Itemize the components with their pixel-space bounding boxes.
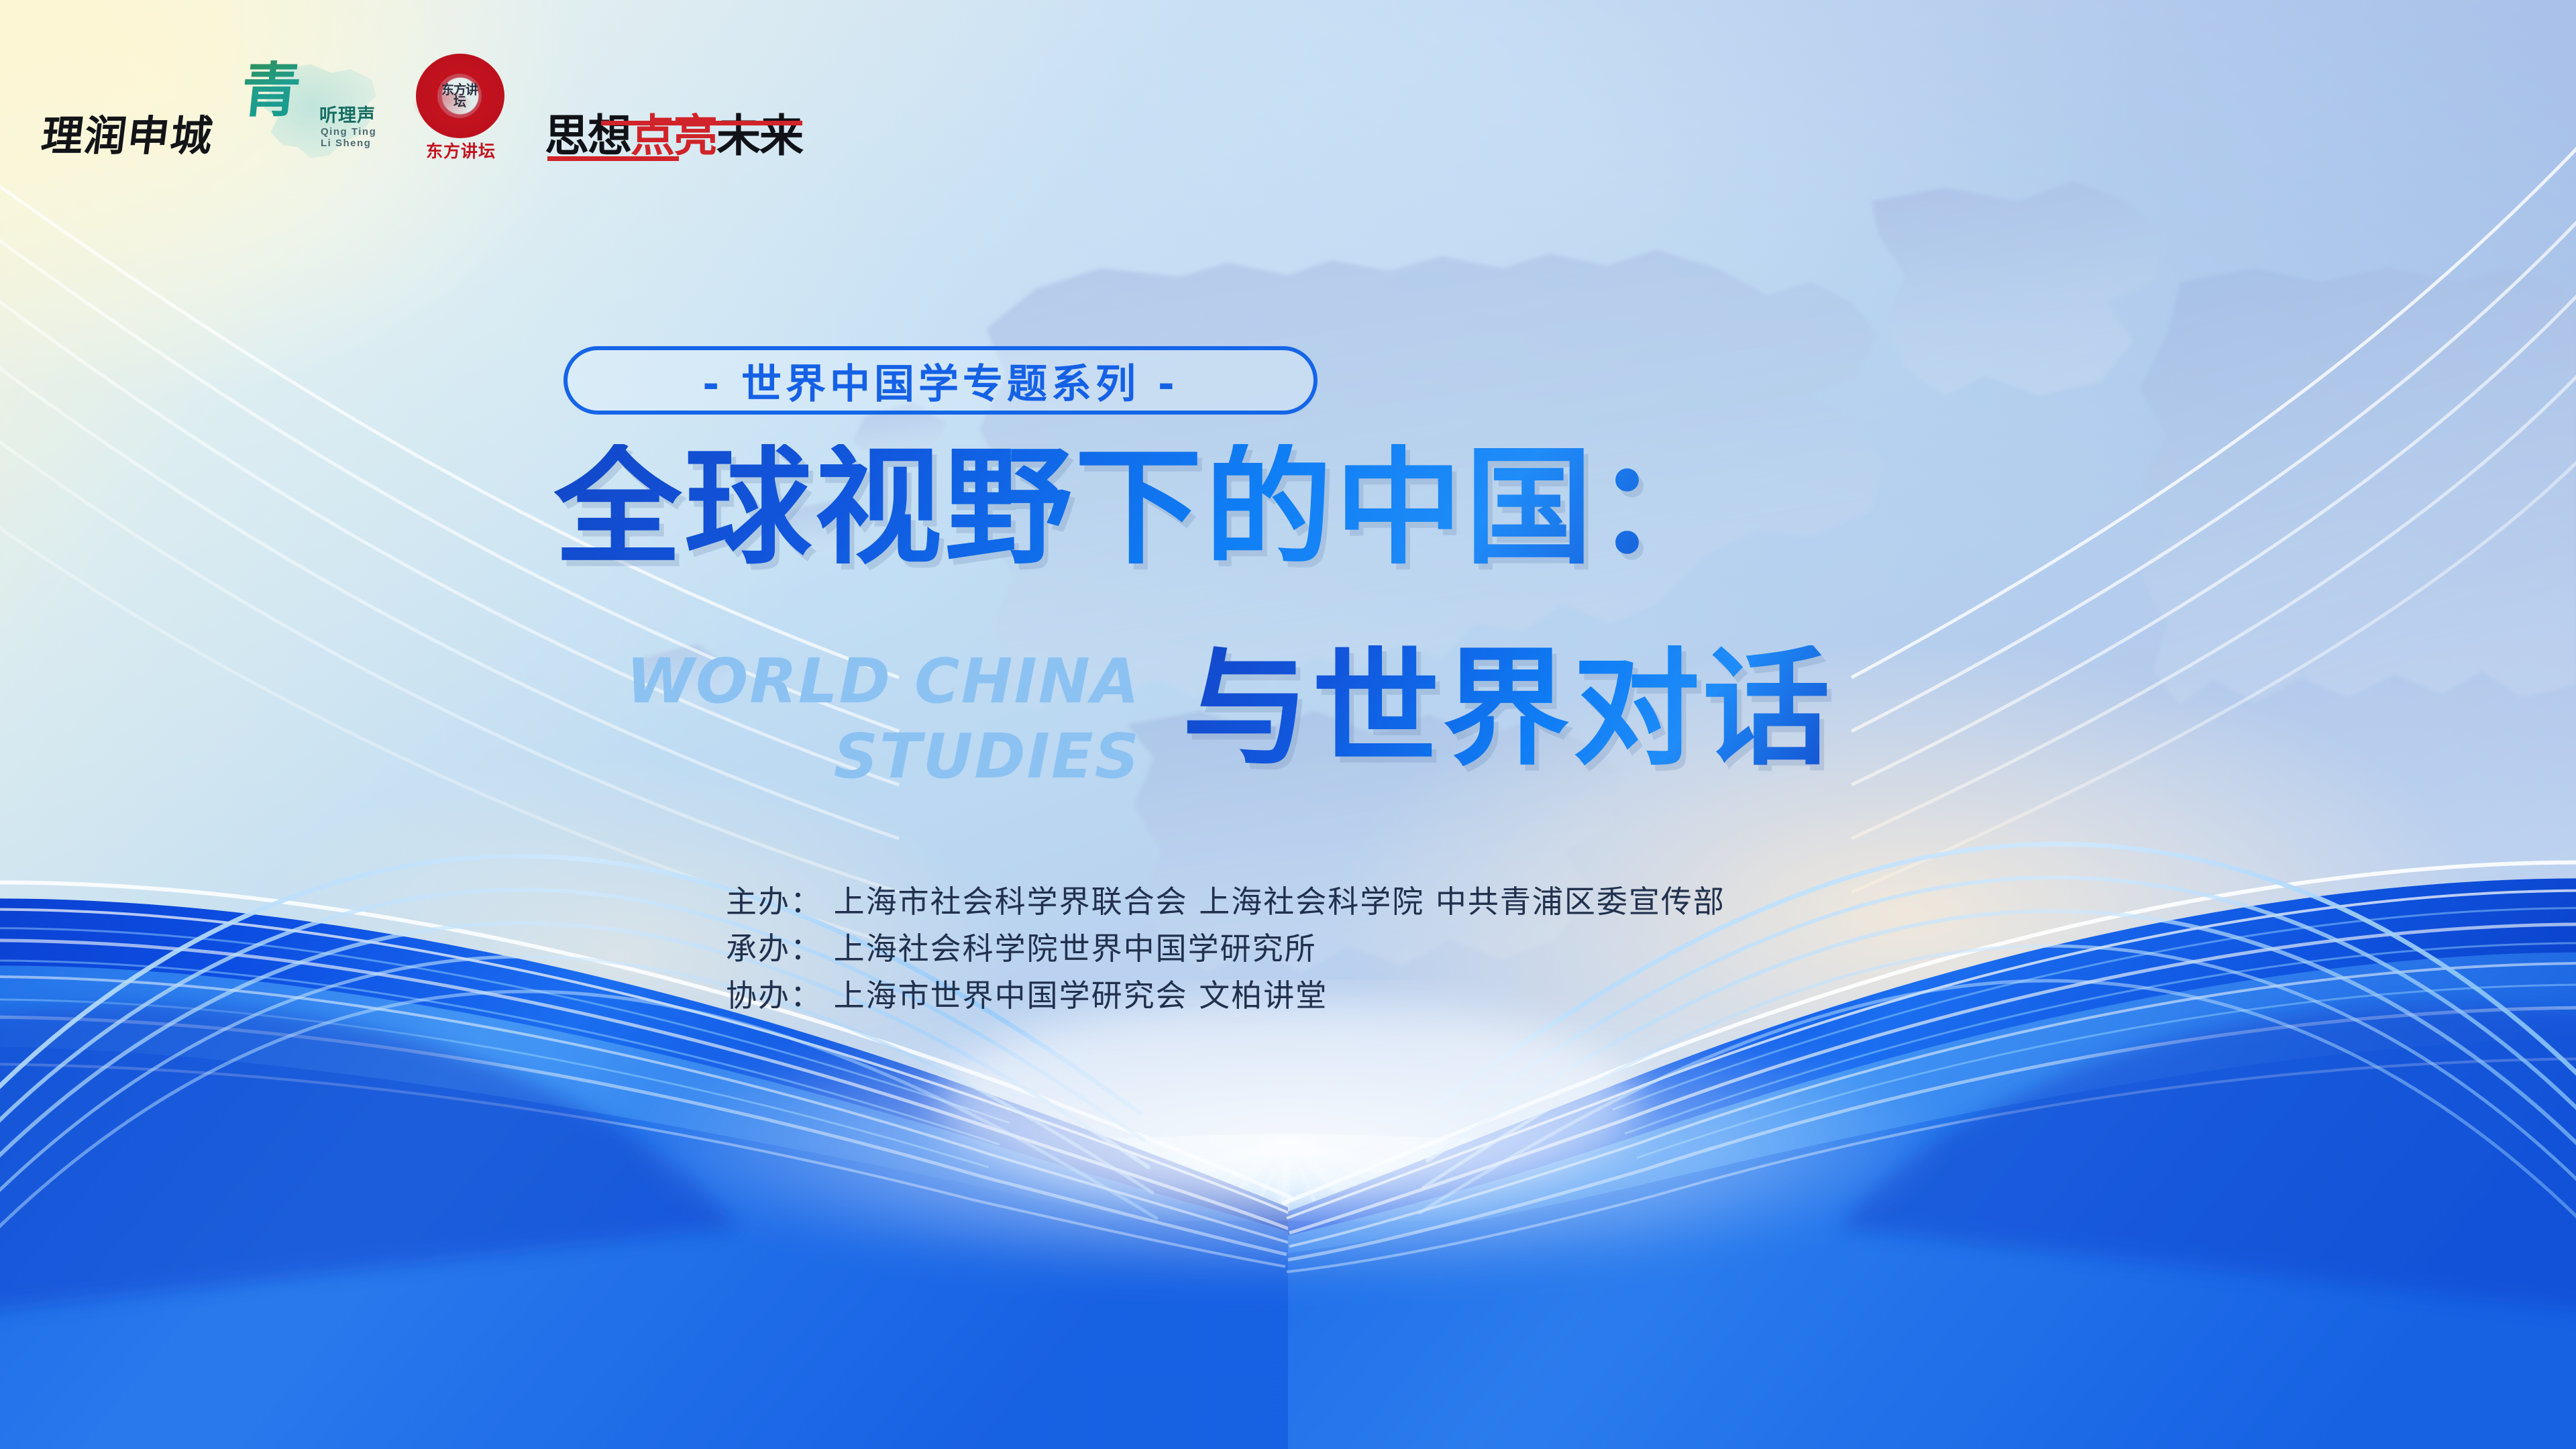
seal-caption: 东方讲坛 — [419, 138, 503, 162]
organizer-block: 主办： 上海市社会科学界联合会 上海社会科学院 中共青浦区委宣传部 承办： 上海… — [726, 879, 1725, 1020]
qing-ting-li-sheng-label: 听理声 — [319, 101, 376, 127]
slogan-part-2: 点亮 — [631, 110, 716, 162]
red-rule-bottom — [547, 156, 679, 161]
title-line-2: 与世界对话 — [1182, 645, 1833, 773]
slogan-part-3: 未来 — [716, 110, 802, 162]
title-line-1: 全球视野下的中国： — [554, 444, 1725, 572]
series-badge: - 世界中国学专题系列 - — [563, 346, 1318, 415]
english-subtitle-line-1: WORLD CHINA — [590, 644, 1140, 719]
red-rule-top — [601, 121, 802, 125]
slogan-part-1: 思想 — [545, 110, 631, 162]
logo-li-run-shen-cheng: 理润申城 — [39, 115, 216, 160]
english-subtitle: WORLD CHINA STUDIES — [590, 644, 1140, 794]
english-subtitle-line-2: STUDIES — [590, 719, 1140, 794]
logo-dong-fang-jiang-tan: 东方讲坛 东方讲坛 — [407, 52, 527, 160]
logo-qing-ting-li-sheng: 青 听理声 Qing Ting Li Sheng — [241, 59, 389, 160]
qing-character: 青 — [238, 60, 303, 119]
organizer-line-host: 主办： 上海市社会科学界联合会 上海社会科学院 中共青浦区委宣传部 — [726, 879, 1725, 926]
series-badge-label: - 世界中国学专题系列 - — [702, 352, 1179, 410]
organizer-line-coorganizer: 协办： 上海市世界中国学研究会 文柏讲堂 — [726, 973, 1725, 1020]
logo-si-xiang-dian-liang-wei-lai: 思想点亮未来 — [545, 114, 802, 160]
sponsor-logo-row: 理润申城 青 听理声 Qing Ting Li Sheng 东方讲坛 东方讲坛 … — [42, 52, 802, 160]
seal-inner-text: 东方讲坛 — [437, 74, 482, 118]
poster-canvas: 理润申城 青 听理声 Qing Ting Li Sheng 东方讲坛 东方讲坛 … — [0, 0, 2576, 1449]
organizer-line-organizer: 承办： 上海社会科学院世界中国学研究所 — [726, 926, 1725, 973]
qing-ting-li-sheng-pinyin: Qing Ting Li Sheng — [321, 126, 389, 149]
